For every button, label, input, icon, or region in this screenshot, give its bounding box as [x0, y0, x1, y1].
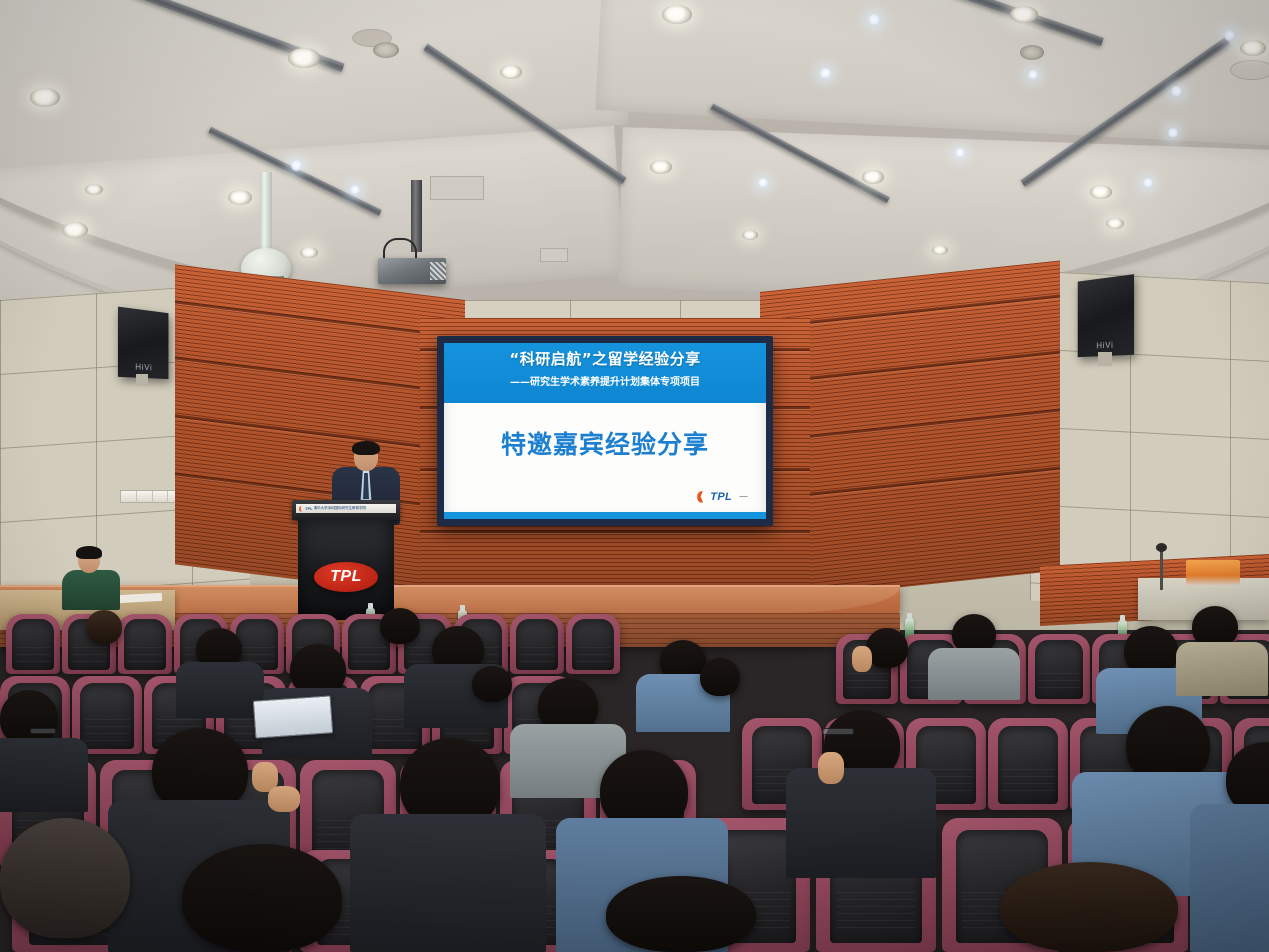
microphone-stand — [1160, 548, 1163, 590]
seat-cushion — [516, 619, 557, 669]
ceiling-downlight — [228, 190, 252, 205]
audience-torso — [1190, 804, 1269, 952]
audience-torso — [176, 662, 264, 718]
speaker-brand-label-right: HiVi — [1078, 339, 1134, 351]
seated-person-left — [62, 548, 120, 606]
ceiling-downlight — [30, 88, 60, 107]
audience-torso — [0, 738, 88, 812]
ceiling-spotlight — [758, 178, 768, 188]
auditorium-seat — [118, 614, 172, 674]
ceiling-spotlight — [1224, 30, 1235, 41]
podium-banner: TPL 清华大学深圳国际研究生教育学院 — [296, 504, 396, 513]
ceiling-spotlight — [291, 160, 302, 171]
auditorium-seat — [566, 614, 620, 674]
laptop[interactable] — [253, 695, 333, 738]
podium-banner-crescent-icon — [299, 506, 304, 512]
audience-head — [606, 876, 756, 952]
ceiling-spotlight — [1171, 86, 1182, 97]
ceiling-downlight — [1020, 45, 1044, 60]
ceiling-spotlight — [350, 185, 360, 195]
wall-speaker-right: HiVi — [1078, 274, 1134, 357]
ceiling-downlight — [300, 247, 318, 258]
podium-tpl-logo: TPL — [314, 562, 378, 592]
tpl-logo-text: TPL — [710, 491, 732, 503]
seat-cushion — [80, 683, 133, 749]
podium-banner-logo-text: TPL — [305, 506, 313, 511]
ceiling-downlight — [1106, 218, 1124, 229]
ceiling-downlight — [932, 245, 948, 255]
ceiling-spotlight — [868, 14, 880, 26]
slide-surface: “科研启航”之留学经验分享 ——研究生学术素养提升计划集体专项项目 特邀嘉宾经验… — [444, 343, 766, 519]
ceiling-spotlight — [1168, 128, 1178, 138]
seat-cushion — [572, 619, 613, 669]
ceiling-downlight — [1090, 185, 1112, 199]
projection-screen: “科研启航”之留学经验分享 ——研究生学术素养提升计划集体专项项目 特邀嘉宾经验… — [437, 336, 773, 526]
speaker-mount-right — [1098, 352, 1112, 366]
tpl-logo-tag: 一 — [739, 490, 748, 503]
audience-torso — [786, 768, 936, 878]
auditorium-seat — [510, 614, 564, 674]
audience-torso — [1176, 642, 1268, 696]
auditorium-seat — [1028, 634, 1090, 704]
podium-logo-text: TPL — [330, 568, 362, 586]
person-hair — [76, 546, 102, 559]
audience-head — [700, 658, 740, 696]
ceiling-downlight — [862, 170, 884, 184]
audience-torso — [350, 814, 546, 952]
podium-banner-text: 清华大学深圳国际研究生教育学院 — [314, 506, 366, 511]
ceiling-spotlight — [820, 68, 831, 79]
audience-head — [472, 666, 512, 702]
eyeglasses — [822, 728, 854, 735]
audience-head — [1000, 862, 1178, 952]
audience-hand — [268, 786, 300, 812]
speaker-mount-left — [136, 374, 148, 384]
ceiling-downlight — [662, 5, 692, 24]
audience-seating — [0, 600, 1269, 952]
seat-cushion — [124, 619, 165, 669]
audience-head — [0, 818, 130, 938]
slide-footer-band — [444, 512, 766, 519]
seat-cushion — [1035, 640, 1082, 699]
slide-title: “科研启航”之留学经验分享 — [444, 348, 766, 369]
seat-cushion — [998, 726, 1059, 803]
eyeglasses — [30, 728, 56, 734]
presenter-hair — [352, 441, 380, 455]
ceiling-spotlight — [1143, 178, 1153, 188]
audience-head — [866, 628, 908, 668]
auditorium-seat — [988, 718, 1068, 810]
slide-subtitle: ——研究生学术素养提升计划集体专项项目 — [444, 373, 766, 388]
ceiling-downlight — [373, 42, 399, 58]
tpl-crescent-icon — [697, 491, 708, 503]
ceiling-downlight — [1240, 40, 1266, 56]
audience-hand — [852, 646, 872, 672]
lecture-hall-photo: HiVi HiVi “科研启航”之留学经验分享 ——研究生学术素养提升计划集体专… — [0, 0, 1269, 952]
seat-cushion — [12, 619, 53, 669]
camera-mount-pole — [260, 172, 272, 254]
audience-head — [380, 608, 420, 644]
microphone-icon — [1156, 543, 1167, 552]
slide-main-text: 特邀嘉宾经验分享 — [444, 425, 766, 461]
ceiling-downlight — [500, 65, 522, 79]
projector-vent — [430, 262, 446, 280]
ceiling-downlight — [288, 48, 320, 68]
ceiling-spotlight — [1028, 70, 1038, 80]
ceiling-downlight — [62, 222, 88, 238]
ceiling-downlight — [85, 184, 103, 195]
wall-speaker-left: HiVi — [118, 307, 169, 379]
audience-head — [86, 610, 122, 644]
ceiling-downlight — [1010, 6, 1038, 23]
ceiling-downlight — [650, 160, 672, 174]
slide-tpl-logo: TPL 一 — [697, 490, 748, 503]
audience-head — [182, 844, 342, 952]
speaker-brand-label-left: HiVi — [118, 361, 169, 373]
audience-hand — [818, 752, 844, 784]
audience-torso — [928, 648, 1020, 700]
auditorium-seat — [6, 614, 60, 674]
ceiling-downlight — [742, 230, 758, 240]
materials-stack — [1186, 560, 1240, 586]
ceiling-spotlight — [955, 148, 965, 158]
